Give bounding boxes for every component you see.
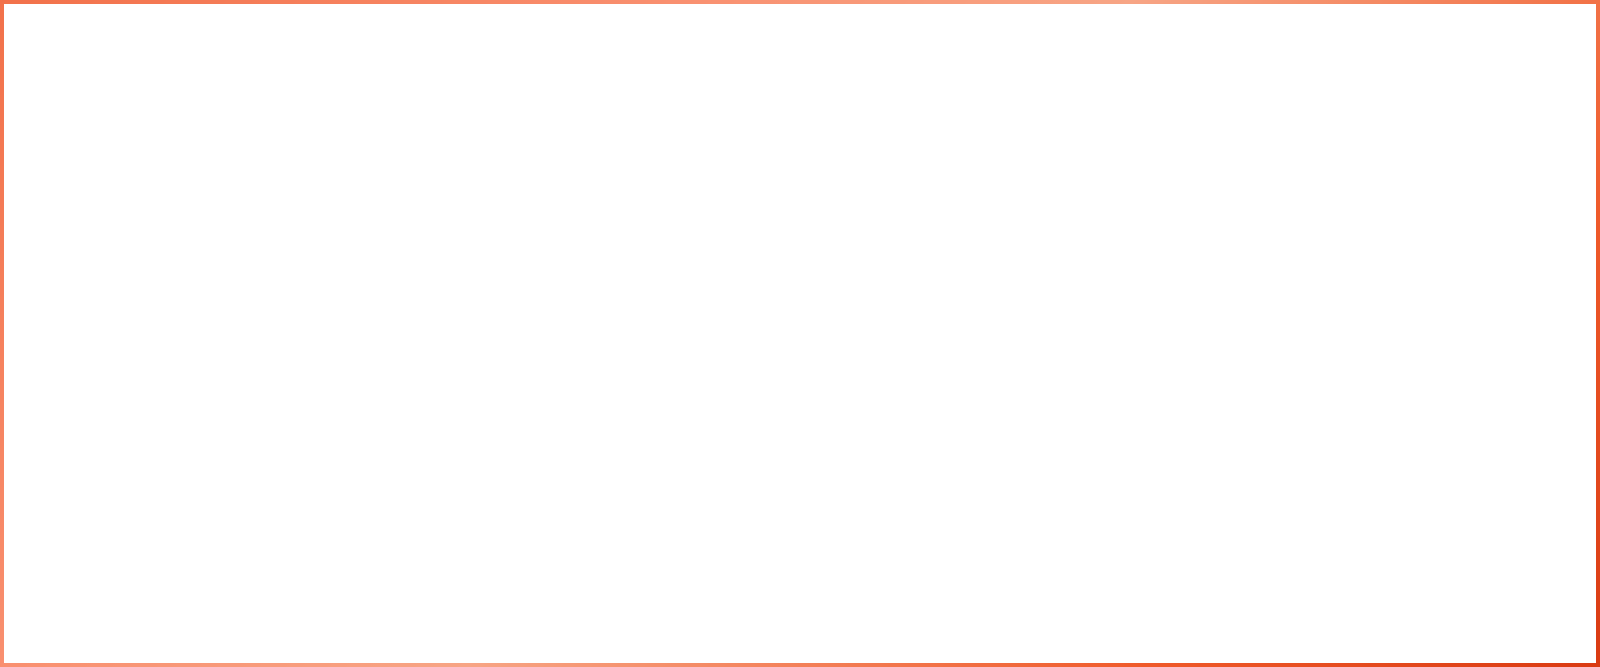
nail-icon [396, 121, 424, 163]
label-platelets: Platelets [768, 323, 862, 345]
white-blood-cell [546, 439, 598, 481]
check-icon [413, 582, 479, 648]
verdict-anemia-label: Anemia [1027, 591, 1207, 640]
nail-icon [456, 103, 484, 145]
normal-sample [492, 304, 742, 554]
nail-icon [1079, 103, 1107, 145]
white-blood-cell [903, 423, 955, 465]
label-white-blood-cells: White Blood Cells [793, 256, 985, 278]
platelet [1024, 533, 1042, 551]
cross-icon [939, 582, 1005, 648]
white-blood-cell [572, 527, 624, 569]
page-title: ANEMIA [602, 62, 972, 172]
white-blood-cell [921, 343, 973, 385]
white-blood-cell [652, 495, 704, 537]
label-red-blood-cells: Red Blood Cells [617, 256, 787, 278]
white-blood-cell [963, 375, 1015, 417]
verdict-normal-label: Normal [501, 591, 680, 640]
anemia-sample [829, 304, 1079, 554]
white-blood-cell [666, 343, 718, 385]
infographic-canvas: Red Blood Cells White Blood Cells Platel… [0, 0, 1600, 667]
nail-icon [1139, 121, 1167, 163]
white-blood-cell [712, 451, 764, 493]
white-blood-cell [993, 487, 1045, 529]
title-banner: ANEMIA [602, 62, 972, 172]
white-blood-cell [618, 395, 670, 437]
verdict-normal: Normal [413, 582, 680, 648]
white-blood-cell [1029, 503, 1081, 545]
white-blood-cell [873, 485, 925, 527]
artwork-area: Red Blood Cells White Blood Cells Platel… [4, 4, 1596, 663]
verdict-anemia: Anemia [939, 582, 1207, 648]
